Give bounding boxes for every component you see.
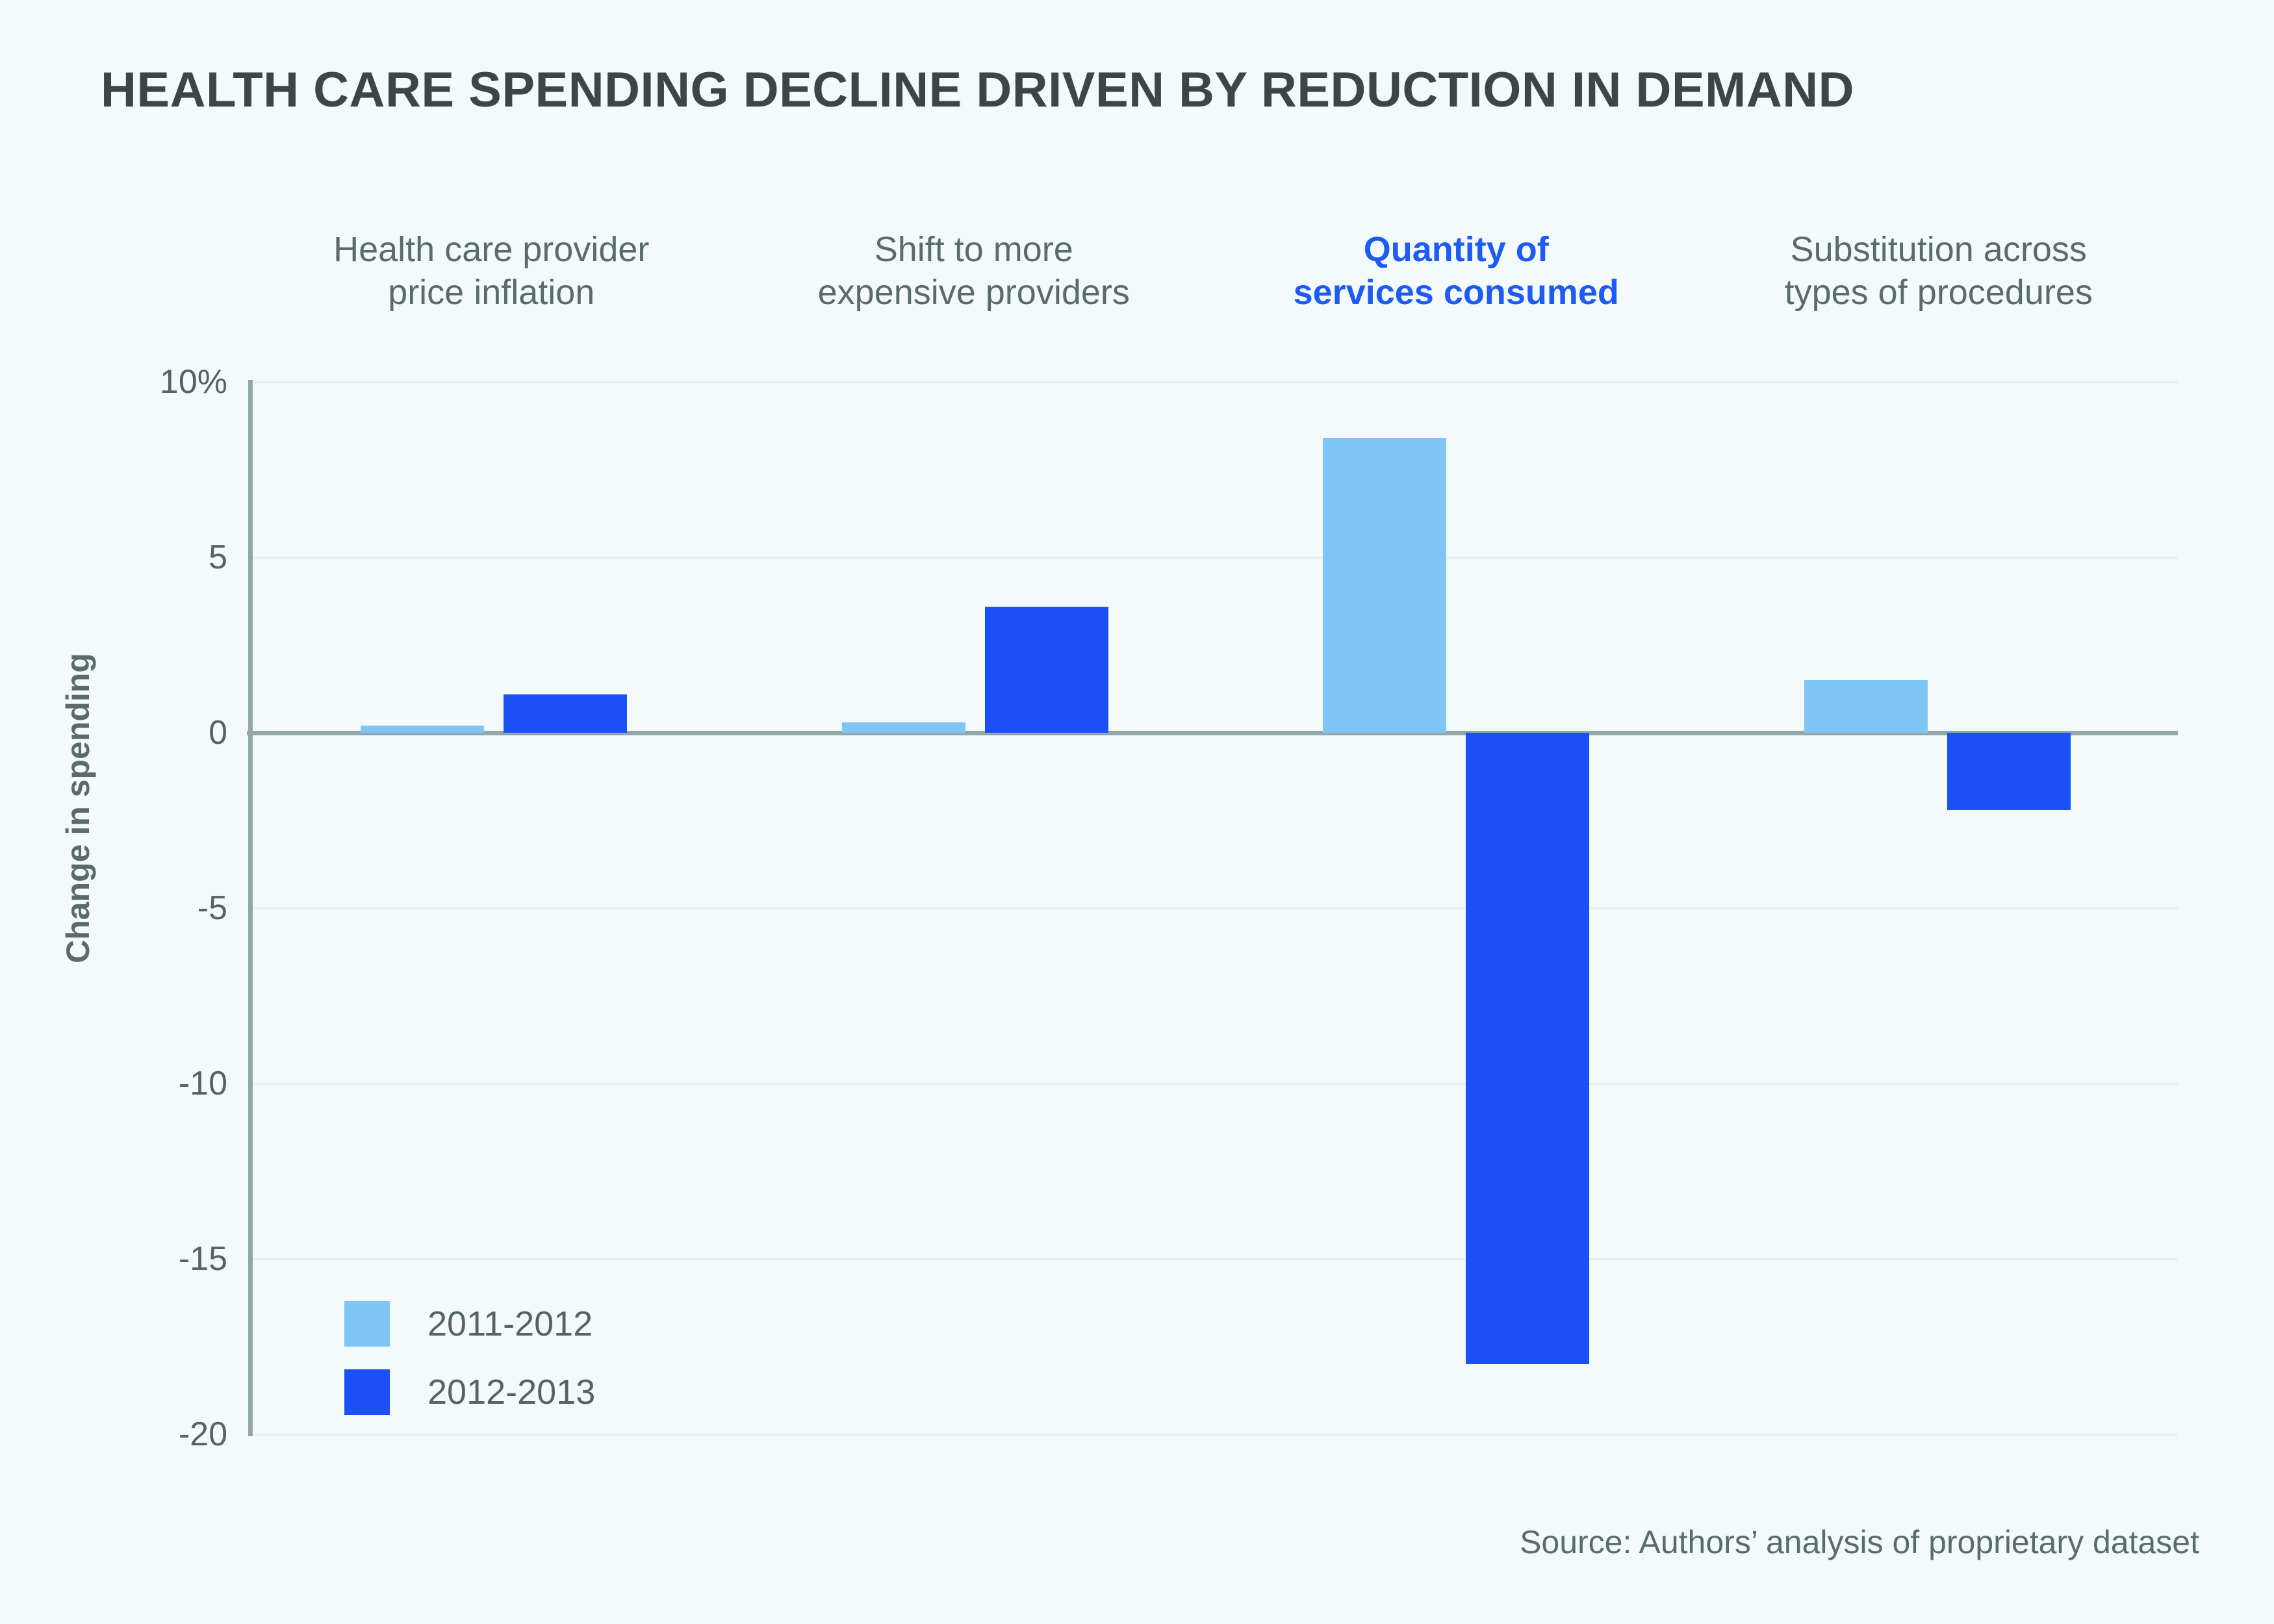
bar-2011-2012-group3 bbox=[1804, 680, 1928, 733]
group-header-1: Shift to more expensive providers bbox=[733, 229, 1216, 346]
bar-2012-2013-group0 bbox=[504, 694, 627, 733]
group-header-0-line2: price inflation bbox=[250, 272, 733, 314]
gridline-10 bbox=[253, 381, 2178, 383]
source-note: Source: Authors’ analysis of proprietary… bbox=[1520, 1523, 2199, 1561]
legend-swatch-2012-2013 bbox=[344, 1369, 390, 1415]
legend-label-2012-2013: 2012-2013 bbox=[428, 1372, 595, 1412]
group-header-2: Quantity of services consumed bbox=[1215, 229, 1698, 346]
group-header-3-line2: types of procedures bbox=[1698, 272, 2180, 314]
gridline--10 bbox=[253, 1083, 2178, 1085]
y-tick-label--10: -10 bbox=[39, 1064, 227, 1103]
y-axis-spine bbox=[248, 380, 253, 1436]
group-header-1-line2: expensive providers bbox=[733, 272, 1216, 314]
group-header-2-line2: services consumed bbox=[1215, 272, 1698, 314]
legend-item-1: 2012-2013 bbox=[344, 1358, 595, 1426]
gridline-5 bbox=[253, 557, 2178, 559]
legend-item-0: 2011-2012 bbox=[344, 1289, 595, 1358]
y-tick-label--15: -15 bbox=[39, 1239, 227, 1278]
gridline--5 bbox=[253, 907, 2178, 909]
y-axis-label: Change in spending bbox=[59, 581, 97, 1035]
group-header-0: Health care provider price inflation bbox=[250, 229, 733, 346]
group-header-1-line1: Shift to more bbox=[733, 229, 1216, 272]
gridline--15 bbox=[253, 1258, 2178, 1260]
bar-2012-2013-group2 bbox=[1466, 733, 1589, 1364]
bar-2011-2012-group1 bbox=[842, 722, 965, 733]
group-header-0-line1: Health care provider bbox=[250, 229, 733, 272]
bar-2012-2013-group3 bbox=[1947, 733, 2071, 810]
plot-area bbox=[253, 382, 2178, 1434]
legend: 2011-2012 2012-2013 bbox=[344, 1289, 595, 1426]
gridline--20 bbox=[253, 1434, 2178, 1436]
group-header-3: Substitution across types of procedures bbox=[1698, 229, 2180, 346]
group-header-row: Health care provider price inflation Shi… bbox=[250, 229, 2180, 346]
bar-2012-2013-group1 bbox=[985, 607, 1108, 733]
chart-figure: HEALTH CARE SPENDING DECLINE DRIVEN BY R… bbox=[0, 0, 2274, 1624]
chart-title: HEALTH CARE SPENDING DECLINE DRIVEN BY R… bbox=[101, 62, 2212, 118]
y-tick-label-10%: 10% bbox=[39, 362, 227, 401]
y-tick-label--20: -20 bbox=[39, 1415, 227, 1454]
legend-label-2011-2012: 2011-2012 bbox=[428, 1304, 593, 1344]
legend-swatch-2011-2012 bbox=[344, 1301, 390, 1347]
group-header-3-line1: Substitution across bbox=[1698, 229, 2180, 272]
bar-2011-2012-group0 bbox=[361, 726, 484, 733]
group-header-2-line1: Quantity of bbox=[1215, 229, 1698, 272]
y-tick-label-5: 5 bbox=[39, 538, 227, 577]
bar-2011-2012-group2 bbox=[1323, 438, 1446, 733]
